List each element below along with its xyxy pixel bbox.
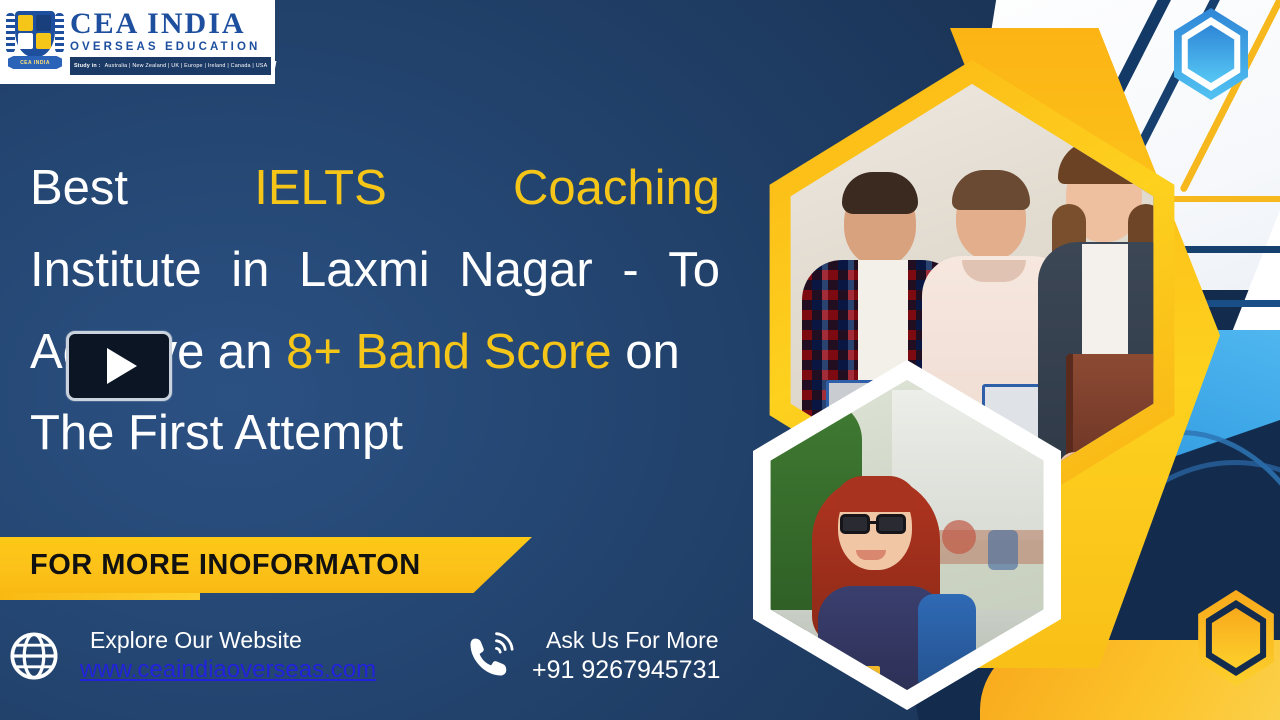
headline-line-2: Institute in Laxmi Nagar - To [30, 230, 720, 312]
headline-word-best: Best [30, 148, 128, 230]
footer-contact-bar: Explore Our Website www.ceaindiaoverseas… [0, 612, 780, 720]
headline-word-ielts: IELTS [254, 148, 387, 230]
contact-phone[interactable]: Ask Us For More +91 9267945731 [464, 626, 720, 686]
website-link[interactable]: www.ceaindiaoverseas.com [80, 655, 376, 685]
poster-canvas: CEA INDIA CEA INDIA OVERSEAS EDUCATION S… [0, 0, 1280, 720]
contact-phone-caption: Ask Us For More [546, 627, 719, 653]
headline-word-dash: - [622, 230, 638, 312]
logo-subtitle: OVERSEAS EDUCATION [70, 39, 271, 55]
cta-label: FOR MORE INOFORMATON [30, 549, 421, 582]
phone-number[interactable]: +91 9267945731 [532, 655, 720, 687]
logo-text-block: CEA INDIA OVERSEAS EDUCATION Study in : … [70, 9, 271, 75]
phone-ringing-icon [464, 630, 516, 682]
contact-phone-text: Ask Us For More +91 9267945731 [532, 626, 720, 686]
logo-strip-prefix: Study in : [74, 63, 101, 69]
hexagon-decor-bottom-right-icon [1192, 590, 1280, 686]
hexagon-decor-top-right-icon [1168, 8, 1254, 100]
play-button[interactable] [66, 331, 172, 401]
headline-word-coaching: Coaching [513, 148, 720, 230]
shield-ribbon-label: CEA INDIA [8, 56, 62, 69]
headline-word-nagar: Nagar [459, 230, 592, 312]
headline-word-laxmi: Laxmi [299, 230, 430, 312]
globe-icon [8, 630, 60, 682]
headline-line-1: Best IELTS Coaching [30, 148, 720, 230]
headline-text-on: on [612, 325, 680, 379]
contact-website[interactable]: Explore Our Website www.ceaindiaoverseas… [8, 626, 376, 685]
contact-website-caption: Explore Our Website [90, 627, 302, 653]
headline-highlight-band-score: 8+ Band Score [286, 325, 612, 379]
logo-strip-countries: Australia | New Zealand | UK | Europe | … [105, 63, 268, 69]
cta-accent-strip [0, 593, 200, 600]
shield-emblem-icon: CEA INDIA [4, 5, 66, 79]
headline-line-4: The First Attempt [30, 393, 720, 475]
headline-word-institute: Institute [30, 230, 202, 312]
cta-banner[interactable]: FOR MORE INOFORMATON [0, 537, 532, 593]
play-triangle-icon [107, 348, 137, 384]
headline-word-to: To [668, 230, 720, 312]
logo-strip-slashes-icon: // [271, 60, 275, 72]
contact-website-text: Explore Our Website www.ceaindiaoverseas… [76, 626, 376, 685]
logo-countries-strip: Study in : Australia | New Zealand | UK … [70, 57, 271, 75]
headline-word-in: in [231, 230, 269, 312]
page-title: Best IELTS Coaching Institute in Laxmi N… [30, 148, 720, 475]
logo-title: CEA INDIA [70, 9, 271, 39]
brand-logo[interactable]: CEA INDIA CEA INDIA OVERSEAS EDUCATION S… [0, 0, 275, 84]
